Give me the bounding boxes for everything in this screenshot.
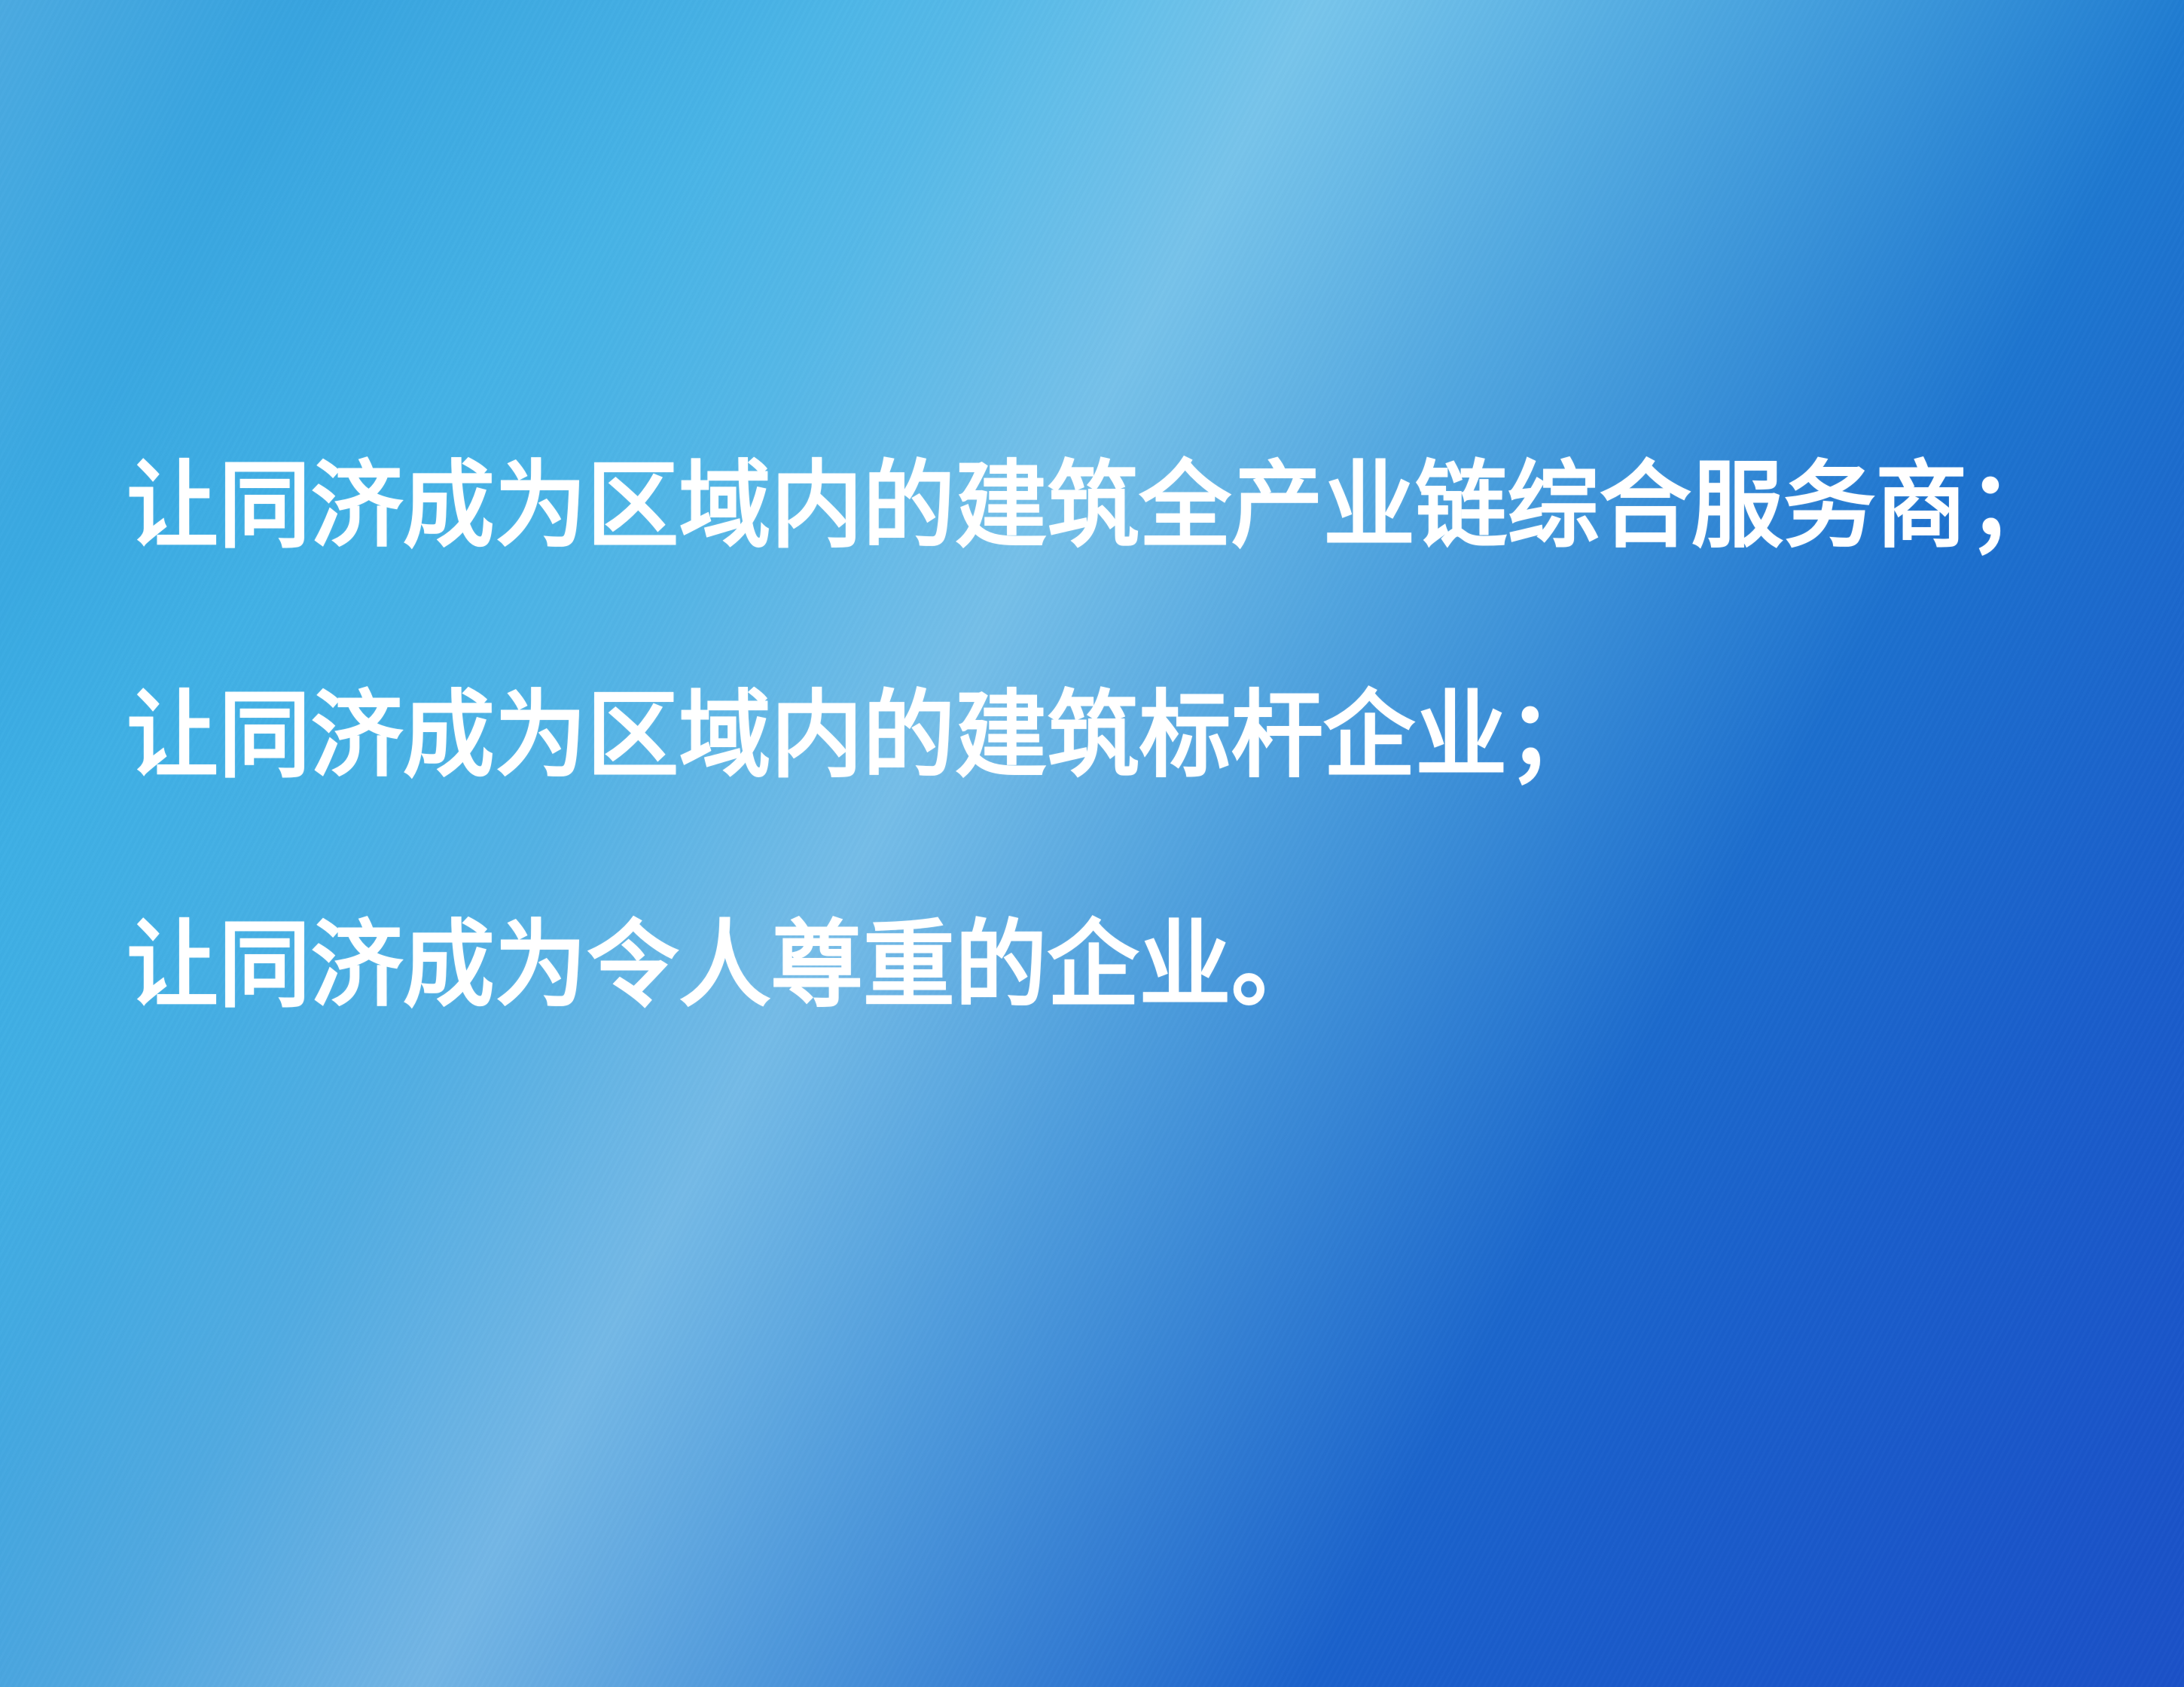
slide-canvas: 让同济成为区域内的建筑全产业链综合服务商； 让同济成为区域内的建筑标杆企业； 让… (0, 0, 2184, 1687)
slide-line-3: 让同济成为令人尊重的企业。 (127, 920, 2026, 1014)
slide-line-1: 让同济成为区域内的建筑全产业链综合服务商； (127, 461, 2026, 554)
slide-line-2: 让同济成为区域内的建筑标杆企业； (127, 691, 2026, 784)
slide-text-block: 让同济成为区域内的建筑全产业链综合服务商； 让同济成为区域内的建筑标杆企业； 让… (127, 461, 2085, 1014)
